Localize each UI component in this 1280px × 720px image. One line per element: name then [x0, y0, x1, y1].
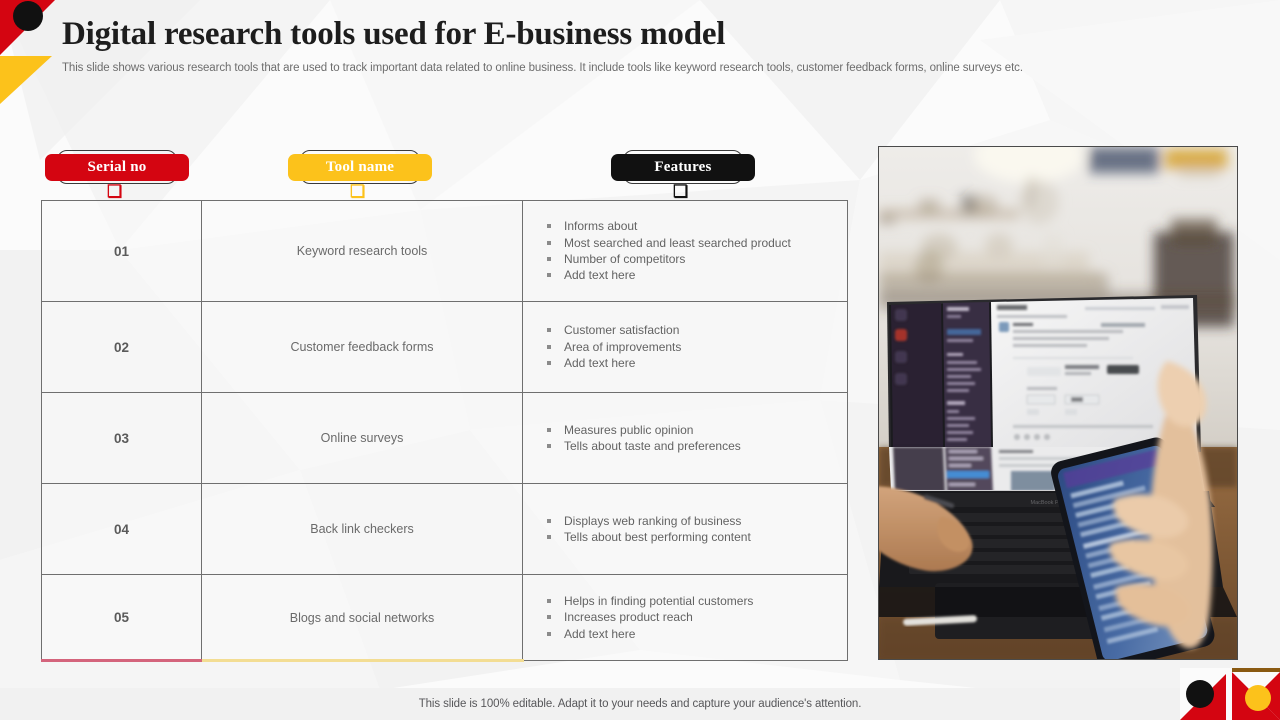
top-left-corner-decoration — [0, 0, 62, 104]
column-header-features[interactable]: Features ❏ — [611, 150, 771, 206]
bottom-right-corner-decoration — [1180, 668, 1280, 720]
page-subtitle: This slide shows various research tools … — [62, 62, 1162, 74]
cell-serial: 01 — [42, 201, 202, 301]
cell-features: Customer satisfaction Area of improvemen… — [523, 302, 847, 392]
features-list: Displays web ranking of business Tells a… — [545, 513, 751, 546]
list-item: Tells about best performing content — [545, 529, 751, 545]
badge-text: Tool name — [326, 159, 394, 176]
cell-features: Informs about Most searched and least se… — [523, 201, 847, 301]
list-item: Helps in finding potential customers — [545, 593, 753, 609]
list-item: Area of improvements — [545, 339, 681, 355]
features-list: Measures public opinion Tells about tast… — [545, 422, 741, 455]
cell-serial: 04 — [42, 484, 202, 574]
list-item: Add text here — [545, 355, 681, 371]
chevron-down-icon-tool-name: ❏ — [350, 183, 365, 200]
cell-tool: Keyword research tools — [202, 201, 523, 301]
cell-features: Measures public opinion Tells about tast… — [523, 393, 847, 483]
chevron-down-icon-serial-no: ❏ — [107, 183, 122, 200]
badge-text: Features — [654, 159, 711, 176]
column-header-tool-name[interactable]: Tool name ❏ — [288, 150, 448, 206]
table-row[interactable]: 03 Online surveys Measures public opinio… — [42, 393, 847, 484]
badge-text: Serial no — [88, 159, 147, 176]
cell-serial: 03 — [42, 393, 202, 483]
table-rail-serial — [41, 659, 202, 662]
badge-label-serial-no: Serial no — [45, 154, 189, 181]
table-rail-tool — [202, 659, 524, 662]
list-item: Most searched and least searched product — [545, 235, 791, 251]
features-list: Customer satisfaction Area of improvemen… — [545, 322, 681, 371]
cell-tool: Customer feedback forms — [202, 302, 523, 392]
list-item: Increases product reach — [545, 609, 753, 625]
slide-photo: MacBook Pro — [878, 146, 1238, 660]
badge-label-tool-name: Tool name — [288, 154, 432, 181]
column-header-serial-no[interactable]: Serial no ❏ — [45, 150, 205, 206]
slide-canvas: Digital research tools used for E-busine… — [0, 0, 1280, 720]
list-item: Measures public opinion — [545, 422, 741, 438]
features-list: Informs about Most searched and least se… — [545, 218, 791, 284]
cell-features: Helps in finding potential customers Inc… — [523, 575, 847, 660]
table-row[interactable]: 02 Customer feedback forms Customer sati… — [42, 302, 847, 393]
cell-serial: 05 — [42, 575, 202, 660]
cell-tool: Back link checkers — [202, 484, 523, 574]
cell-features: Displays web ranking of business Tells a… — [523, 484, 847, 574]
list-item: Tells about taste and preferences — [545, 438, 741, 454]
features-list: Helps in finding potential customers Inc… — [545, 593, 753, 642]
table-row[interactable]: 04 Back link checkers Displays web ranki… — [42, 484, 847, 575]
list-item: Add text here — [545, 267, 791, 283]
list-item: Add text here — [545, 626, 753, 642]
list-item: Informs about — [545, 218, 791, 234]
badge-label-features: Features — [611, 154, 755, 181]
table-row[interactable]: 05 Blogs and social networks Helps in fi… — [42, 575, 847, 660]
list-item: Displays web ranking of business — [545, 513, 751, 529]
slide-header: Digital research tools used for E-busine… — [62, 14, 1162, 74]
cell-serial: 02 — [42, 302, 202, 392]
cell-tool: Blogs and social networks — [202, 575, 523, 660]
list-item: Customer satisfaction — [545, 322, 681, 338]
list-item: Number of competitors — [545, 251, 791, 267]
page-title: Digital research tools used for E-busine… — [62, 14, 1162, 55]
research-tools-table: 01 Keyword research tools Informs about … — [41, 200, 848, 661]
chevron-down-icon-features: ❏ — [673, 183, 688, 200]
photo-illustration: MacBook Pro — [879, 147, 1237, 659]
footer-note: This slide is 100% editable. Adapt it to… — [0, 698, 1280, 710]
table-row[interactable]: 01 Keyword research tools Informs about … — [42, 201, 847, 302]
cell-tool: Online surveys — [202, 393, 523, 483]
